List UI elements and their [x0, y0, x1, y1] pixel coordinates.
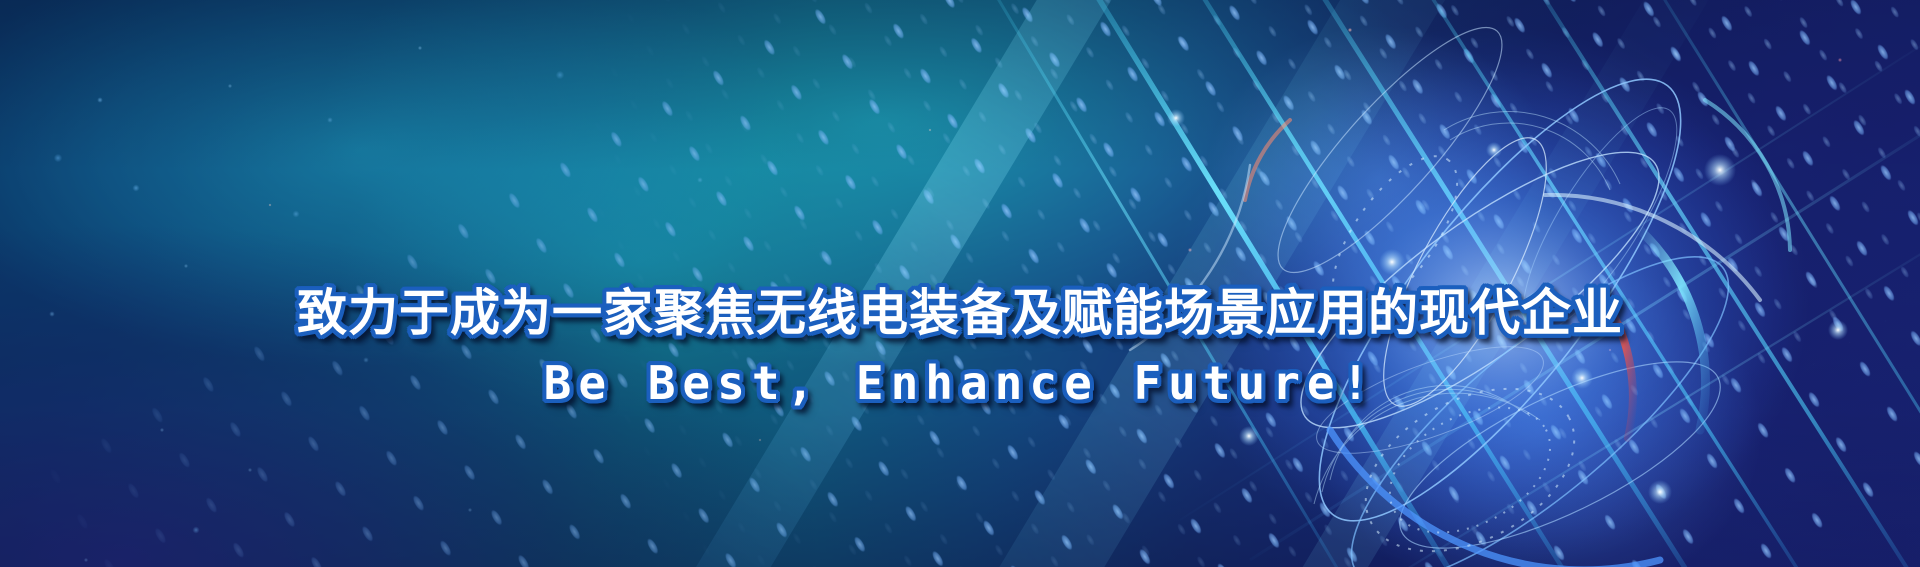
tagline-english: Be Best, Enhance Future!	[0, 360, 1920, 406]
hero-banner: 致力于成为一家聚焦无线电装备及赋能场景应用的现代企业 Be Best, Enha…	[0, 0, 1920, 567]
tagline-chinese: 致力于成为一家聚焦无线电装备及赋能场景应用的现代企业	[0, 288, 1920, 338]
headline-block: 致力于成为一家聚焦无线电装备及赋能场景应用的现代企业 Be Best, Enha…	[0, 288, 1920, 406]
